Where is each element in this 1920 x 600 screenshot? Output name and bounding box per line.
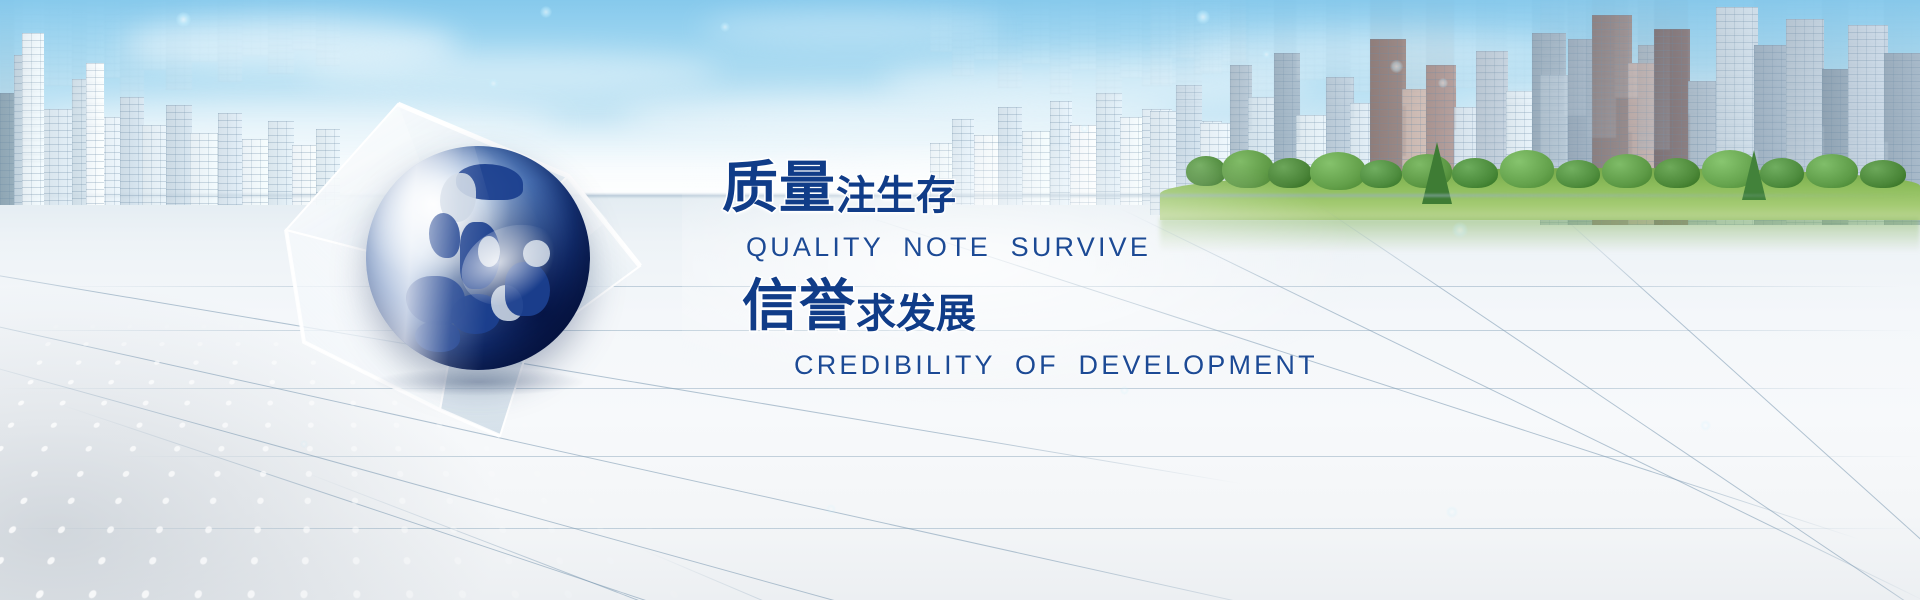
tree (1760, 158, 1804, 188)
window-grid (40, 0, 74, 86)
building (1848, 0, 1888, 170)
window-grid (1176, 0, 1202, 110)
headline-line-1: 质量 注生存 (722, 160, 956, 216)
tree (1500, 150, 1554, 188)
hero-banner: 质量 注生存 QUALITY NOTE SURVIVE 信誉 求发展 CREDI… (0, 0, 1920, 600)
tree (1860, 160, 1906, 188)
building (1884, 0, 1920, 142)
building (1070, 0, 1098, 70)
tree (1602, 154, 1652, 188)
building (166, 0, 192, 90)
window-grid (316, 0, 340, 66)
building (1654, 0, 1690, 166)
tree (1806, 154, 1858, 188)
tree (1556, 160, 1600, 188)
window-grid (1296, 0, 1330, 80)
headline-line1-strong: 质量 (722, 160, 836, 216)
building (952, 0, 974, 76)
window-grid (1070, 0, 1098, 70)
window-grid (1884, 0, 1920, 142)
tree (1452, 158, 1498, 188)
lawn-reflection (1160, 218, 1920, 252)
window-grid (268, 0, 294, 74)
window-grid (1592, 0, 1632, 180)
building (1022, 0, 1052, 64)
subtitle-line-1: QUALITY NOTE SURVIVE (746, 232, 1151, 263)
window-grid (1506, 0, 1534, 104)
tree (1222, 150, 1274, 188)
building (1176, 0, 1202, 110)
window-grid (1120, 0, 1144, 78)
window-grid (218, 0, 242, 82)
building (1754, 0, 1788, 150)
window-grid (1050, 0, 1072, 94)
tree (1186, 156, 1226, 186)
window-grid (86, 0, 104, 132)
headline-line-2: 信誉 求发展 (742, 278, 976, 334)
building (1120, 0, 1144, 78)
tree (1310, 152, 1366, 190)
building (1476, 0, 1508, 144)
building (1096, 0, 1122, 102)
tree (1360, 160, 1402, 188)
conifer-tree (1742, 150, 1766, 200)
building (218, 0, 242, 82)
window-grid (1848, 0, 1888, 170)
building (120, 0, 144, 98)
headline-line2-strong: 信誉 (742, 278, 856, 334)
headline-line2-light: 求发展 (856, 294, 976, 334)
globe-icon (366, 146, 590, 370)
window-grid (1476, 0, 1508, 144)
building (1370, 0, 1406, 156)
building (1592, 0, 1632, 180)
window-grid (1096, 0, 1122, 102)
headline-line1-light: 注生存 (836, 176, 956, 216)
building (1426, 0, 1456, 130)
window-grid (998, 0, 1022, 88)
window-grid (1200, 0, 1234, 72)
building (1506, 0, 1534, 104)
tree (1654, 158, 1700, 188)
building (1786, 0, 1824, 176)
window-grid (1370, 0, 1406, 156)
building (22, 0, 44, 162)
building (1050, 0, 1072, 94)
building (1296, 0, 1330, 80)
subtitle-line-2: CREDIBILITY OF DEVELOPMENT (794, 350, 1318, 381)
window-grid (1654, 0, 1690, 166)
building (86, 0, 104, 132)
globe-shadow (372, 368, 586, 396)
window-grid (1022, 0, 1052, 64)
window-grid (166, 0, 192, 90)
building (1200, 0, 1234, 72)
window-grid (952, 0, 974, 76)
window-grid (120, 0, 144, 98)
window-grid (1426, 0, 1456, 130)
tree (1268, 158, 1312, 188)
window-grid (1786, 0, 1824, 176)
building (316, 0, 340, 66)
building (268, 0, 294, 74)
building (40, 0, 74, 86)
window-grid (1754, 0, 1788, 150)
building (998, 0, 1022, 88)
window-grid (22, 0, 44, 162)
